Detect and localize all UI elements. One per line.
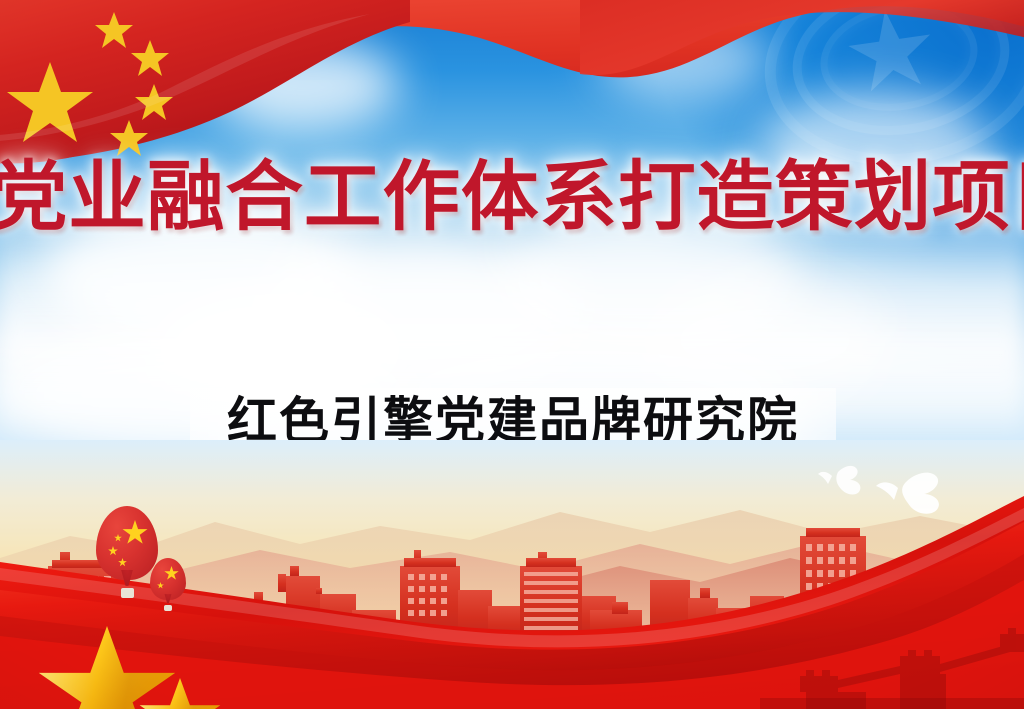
balloon-basket-small xyxy=(164,605,172,611)
gold-star-small xyxy=(138,678,222,709)
slide-title: 党业融合工作体系打造策划项目介绍 xyxy=(0,155,1024,241)
dove-2 xyxy=(902,473,939,514)
balloon-basket-large xyxy=(121,588,134,598)
gold-star-small-shading xyxy=(138,678,222,709)
hot-air-balloon-small xyxy=(150,558,186,612)
doves-group xyxy=(0,440,1024,560)
balloon-envelope-small xyxy=(150,558,186,600)
presentation-title-slide: 党业融合工作体系打造策划项目介绍 红色引擎党建品牌研究院 xyxy=(0,0,1024,709)
dove-1 xyxy=(836,466,860,495)
